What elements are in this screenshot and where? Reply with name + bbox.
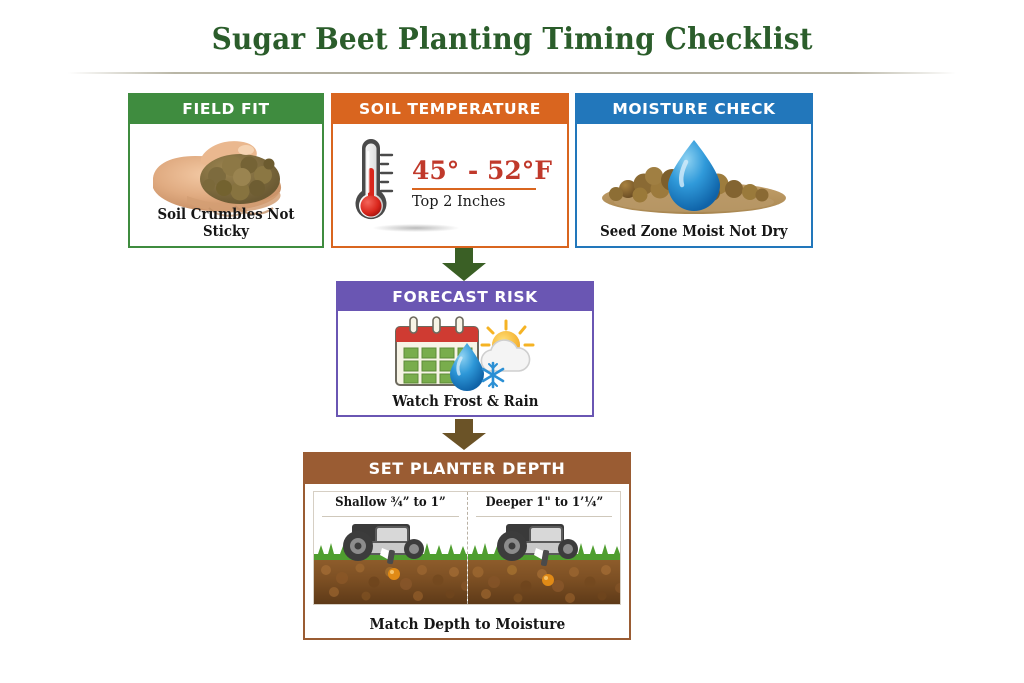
card-field-fit-header: FIELD FIT [130,95,322,124]
card-moisture-check-caption: Seed Zone Moist Not Dry [577,223,811,240]
card-moisture-check-caption-text: Seed Zone Moist Not Dry [600,223,787,240]
card-soil-temperature[interactable]: SOIL TEMPERATURE [331,93,569,248]
depth-panel-deeper[interactable]: Deeper 1" to 1’¼” [467,492,620,604]
card-forecast-risk-caption: Watch Frost & Rain [338,393,592,410]
depth-panel-shallow[interactable]: Shallow ¾” to 1” [314,492,467,604]
depth-panel-shallow-rule [322,516,459,517]
page-title-wrapper: Sugar Beet Planting Timing Checklist [0,22,1024,57]
card-soil-temperature-header: SOIL TEMPERATURE [333,95,567,124]
temperature-text-block: 45° - 52°F Top 2 Inches [412,158,552,211]
depth-panel-shallow-label: Shallow ¾” to 1” [314,495,467,510]
planter-unit-deeper-icon [468,518,620,604]
card-field-fit[interactable]: FIELD FIT [128,93,324,248]
temperature-range-value: 45° - 52°F [412,156,552,185]
forecast-icons-group [390,315,540,396]
card-field-fit-caption: Soil Crumbles Not Sticky [130,206,322,240]
thermometer-icon [348,134,404,235]
depth-panel-deeper-label-text: Deeper 1" to 1’¼” [485,495,603,510]
card-soil-temperature-body: 45° - 52°F Top 2 Inches [333,124,567,246]
card-field-fit-caption-text: Soil Crumbles Not Sticky [138,206,315,240]
planter-unit-shallow-icon [314,518,467,604]
water-droplet-on-soil-icon [594,132,794,225]
thermometer-shadow [373,224,459,232]
card-set-planter-depth-caption-text: Match Depth to Moisture [369,615,565,633]
card-forecast-risk-header: FORECAST RISK [338,283,592,311]
card-moisture-check[interactable]: MOISTURE CHECK [575,93,813,248]
card-forecast-risk-caption-text: Watch Frost & Rain [392,393,538,410]
temperature-underline [412,188,536,190]
card-set-planter-depth-caption: Match Depth to Moisture [305,615,629,633]
depth-panel-deeper-rule [476,516,612,517]
depth-comparison-panel: Shallow ¾” to 1” [313,491,621,605]
card-forecast-risk[interactable]: FORECAST RISK [336,281,594,417]
page-title: Sugar Beet Planting Timing Checklist [211,22,812,57]
card-set-planter-depth[interactable]: SET PLANTER DEPTH Shallow ¾” to 1” [303,452,631,640]
card-moisture-check-header: MOISTURE CHECK [577,95,811,124]
depth-panel-shallow-label-text: Shallow ¾” to 1” [335,495,446,510]
depth-panel-deeper-label: Deeper 1" to 1’¼” [468,495,620,510]
title-divider [68,72,956,74]
temperature-depth-label: Top 2 Inches [412,194,506,210]
temperature-row: 45° - 52°F Top 2 Inches [333,134,567,235]
card-set-planter-depth-header: SET PLANTER DEPTH [305,454,629,484]
